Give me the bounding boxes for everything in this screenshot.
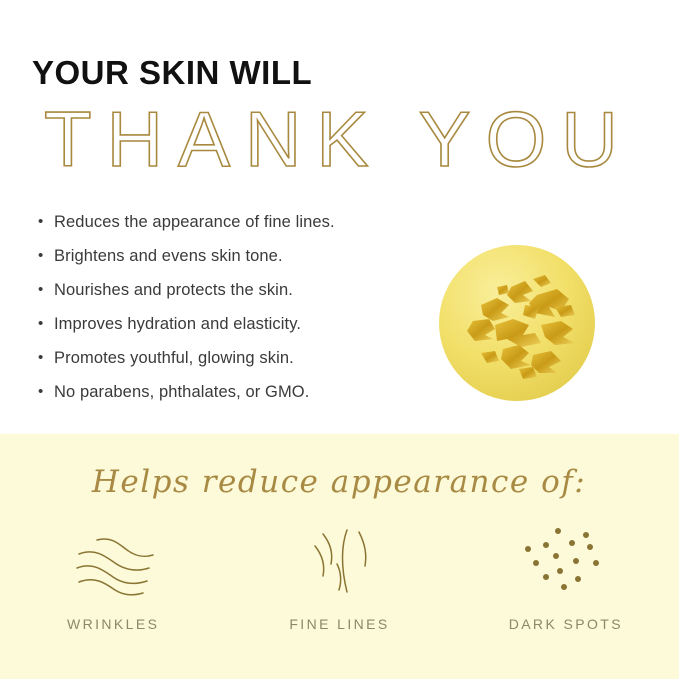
- benefit-fine-lines: FINE LINES: [226, 522, 452, 632]
- benefit-wrinkles: WRINKLES: [0, 522, 226, 632]
- list-item: • Nourishes and protects the skin.: [38, 280, 438, 314]
- bullet-icon: •: [38, 212, 54, 232]
- benefits-list: • Reduces the appearance of fine lines. …: [38, 212, 438, 416]
- display-title-text: THANK YOU: [44, 95, 633, 183]
- bullet-icon: •: [38, 246, 54, 266]
- list-item-label: Improves hydration and elasticity.: [54, 314, 301, 334]
- benefit-label: WRINKLES: [67, 616, 159, 632]
- bullet-icon: •: [38, 382, 54, 402]
- benefit-icons-row: WRINKLES FINE LINES: [0, 522, 679, 632]
- list-item: • Brightens and evens skin tone.: [38, 246, 438, 280]
- display-title: THANK YOU: [44, 104, 634, 182]
- gold-foil-circle: [437, 243, 597, 403]
- benefit-dark-spots: DARK SPOTS: [453, 522, 679, 632]
- list-item: • No parabens, phthalates, or GMO.: [38, 382, 438, 416]
- ad-banner: YOUR SKIN WILL THANK YOU • Reduces the a…: [0, 0, 679, 679]
- list-item: • Improves hydration and elasticity.: [38, 314, 438, 348]
- dark-spots-icon: [511, 522, 621, 600]
- list-item: • Reduces the appearance of fine lines.: [38, 212, 438, 246]
- lower-panel: Helps reduce appearance of: WRINKLES: [0, 434, 679, 679]
- benefit-label: DARK SPOTS: [509, 616, 623, 632]
- panel-heading: Helps reduce appearance of:: [0, 450, 679, 512]
- headline: YOUR SKIN WILL: [32, 56, 312, 89]
- bullet-icon: •: [38, 314, 54, 334]
- bullet-icon: •: [38, 348, 54, 368]
- fine-lines-icon: [284, 522, 394, 600]
- bullet-icon: •: [38, 280, 54, 300]
- list-item-label: No parabens, phthalates, or GMO.: [54, 382, 309, 402]
- benefit-label: FINE LINES: [289, 616, 389, 632]
- panel-heading-text: Helps reduce appearance of:: [91, 464, 586, 500]
- list-item-label: Promotes youthful, glowing skin.: [54, 348, 294, 368]
- list-item-label: Brightens and evens skin tone.: [54, 246, 283, 266]
- list-item: • Promotes youthful, glowing skin.: [38, 348, 438, 382]
- list-item-label: Nourishes and protects the skin.: [54, 280, 293, 300]
- list-item-label: Reduces the appearance of fine lines.: [54, 212, 335, 232]
- wrinkles-icon: [58, 522, 168, 600]
